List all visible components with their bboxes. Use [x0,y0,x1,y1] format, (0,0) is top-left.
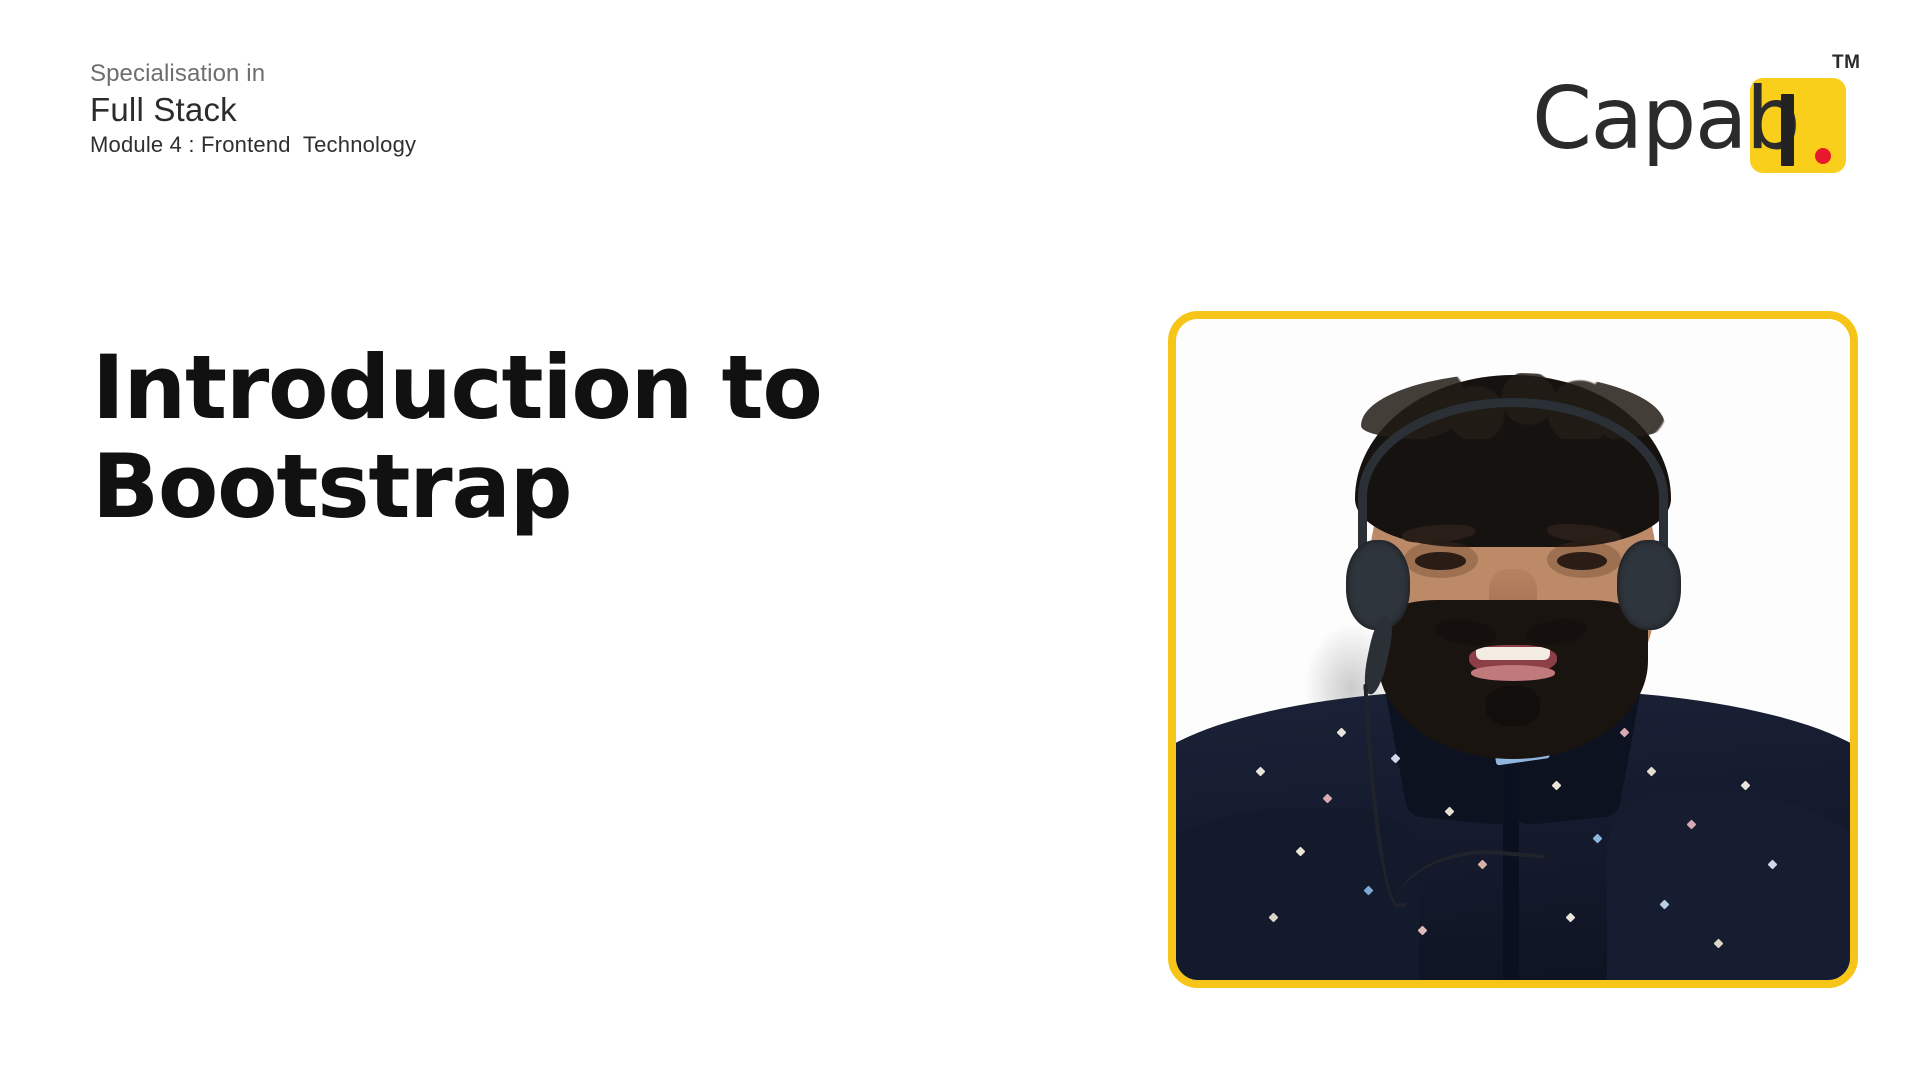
course-eyebrow: Specialisation in [90,62,416,86]
slide-canvas: Specialisation in Full Stack Module 4 : … [0,0,1920,1080]
lower-lip [1471,665,1555,680]
headset-earcup-right [1617,540,1681,629]
page-title: Introduction to Bootstrap [92,338,952,537]
logo-letter-l-icon [1781,94,1794,166]
logo-wordmark: Capab [1532,76,1799,162]
logo-red-dot-icon [1815,148,1831,164]
teeth [1476,647,1550,660]
course-program-name: Full Stack [90,93,416,126]
shoulder-right [1607,795,1850,980]
logo-trademark: TM [1832,52,1860,74]
video-stage [1176,319,1850,980]
course-module-label: Module 4 : Frontend Technology [90,134,416,156]
presenter-portrait [1176,319,1850,980]
headset-earcup-left [1346,540,1410,629]
course-header: Specialisation in Full Stack Module 4 : … [90,62,416,156]
presenter-video-frame [1168,311,1858,988]
capabl-logo: Capab TM [1532,52,1862,182]
chin-beard-patch [1486,686,1540,726]
